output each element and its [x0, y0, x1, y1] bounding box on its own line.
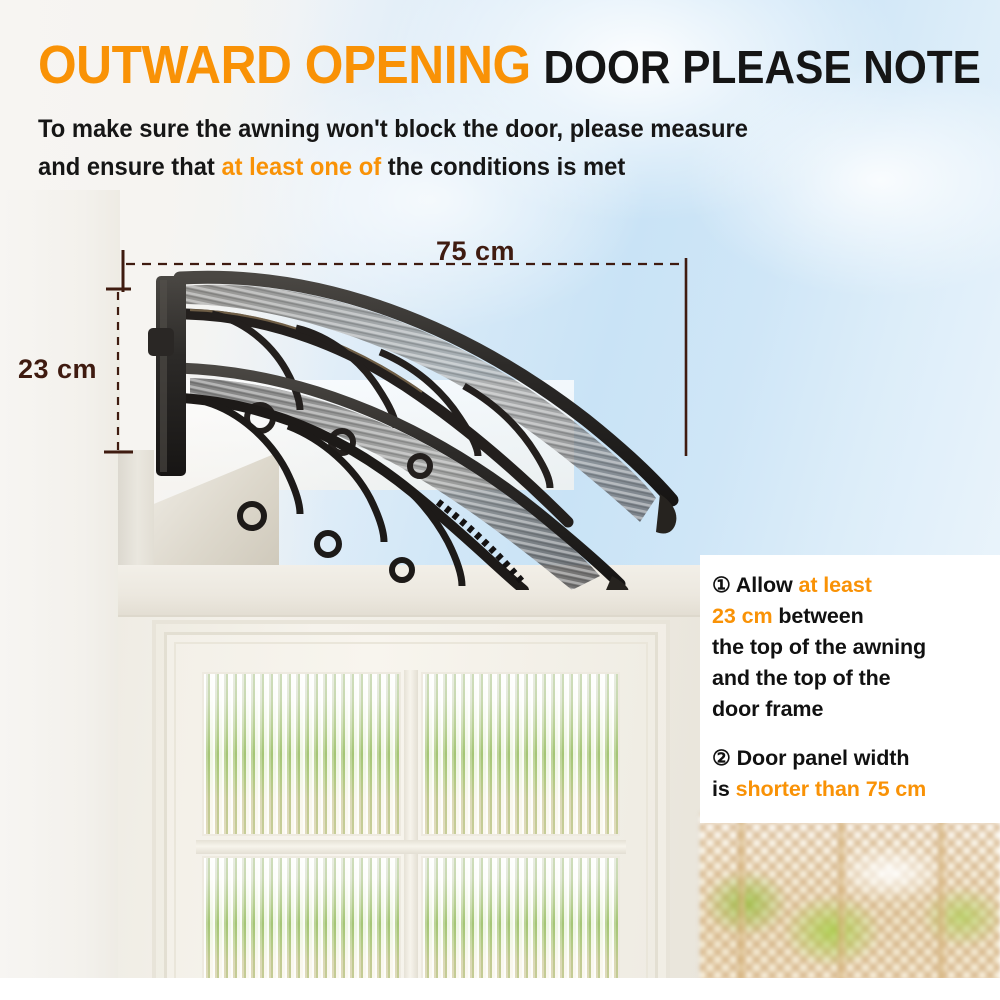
subtitle-line1-text: To make sure the awning won't block the … [38, 115, 748, 143]
condition-2-text-a: Door panel width [731, 746, 910, 770]
bottom-white-band [0, 978, 1000, 1000]
headline-black: DOOR PLEASE NOTE [544, 41, 981, 93]
condition-2-text-b: is [712, 777, 736, 801]
dimension-label-height: 23 cm [18, 354, 97, 385]
condition-item-2: ② Door panel width is shorter than 75 cm [712, 743, 1000, 805]
condition-item-1: ① Allow at least 23 cm between the top o… [712, 570, 1000, 725]
condition-2-line-2: is shorter than 75 cm [712, 774, 1000, 805]
condition-1-text-a: Allow [731, 573, 799, 597]
subtitle: To make sure the awning won't block the … [38, 110, 922, 186]
condition-2-highlight: shorter than 75 cm [736, 777, 927, 801]
condition-1-line-4: and the top of the [712, 663, 1000, 694]
condition-1-line-5: door frame [712, 694, 1000, 725]
condition-1-highlight-a: at least [799, 573, 872, 597]
condition-1-marker: ① [712, 574, 731, 597]
subtitle-line2-lead: and ensure that [38, 153, 221, 181]
condition-1-highlight-b: 23 cm [712, 604, 772, 628]
conditions-list: ① Allow at least 23 cm between the top o… [712, 570, 1000, 805]
page-title: OUTWARD OPENING DOOR PLEASE NOTE [38, 36, 907, 94]
condition-1-line-1: ① Allow at least [712, 570, 1000, 601]
subtitle-highlight: at least one of [221, 153, 381, 181]
subtitle-line2-tail: the conditions is met [381, 153, 625, 181]
condition-2-marker: ② [712, 747, 731, 770]
condition-2-line-1: ② Door panel width [712, 743, 1000, 774]
condition-1-line-2: 23 cm between [712, 601, 1000, 632]
dimension-label-width: 75 cm [436, 236, 515, 267]
subtitle-line-2: and ensure that at least one of the cond… [38, 148, 922, 186]
infographic-canvas: 75 cm 23 cm OUTWARD OPENING DOOR PLEASE … [0, 0, 1000, 1000]
headline-orange: OUTWARD OPENING [38, 35, 531, 95]
condition-1-text-b: between [772, 604, 863, 628]
subtitle-line-1: To make sure the awning won't block the … [38, 110, 922, 148]
condition-1-line-3: the top of the awning [712, 632, 1000, 663]
